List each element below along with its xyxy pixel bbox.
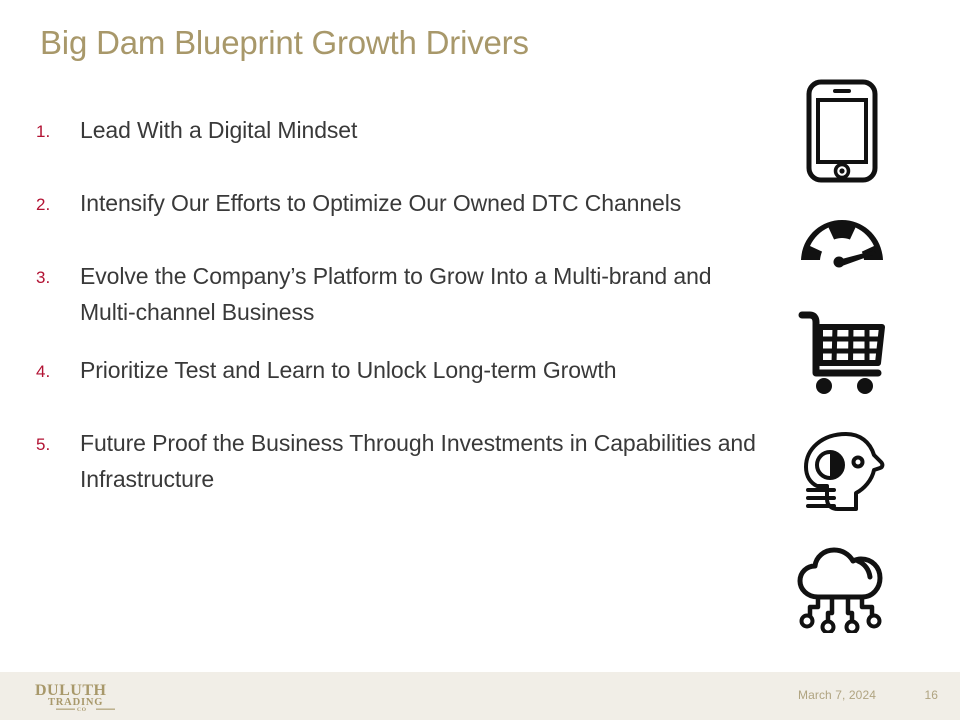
footer-date: March 7, 2024 (798, 688, 876, 702)
list-item: 4. Prioritize Test and Learn to Unlock L… (36, 352, 756, 389)
list-item-text: Intensify Our Efforts to Optimize Our Ow… (80, 185, 756, 221)
cloud-network-icon (762, 532, 922, 642)
list-item: 5. Future Proof the Business Through Inv… (36, 425, 756, 497)
list-item-text: Lead With a Digital Mindset (80, 112, 756, 148)
list-item-number: 5. (36, 425, 80, 462)
list-item-number: 4. (36, 352, 80, 389)
speedometer-icon (762, 200, 922, 290)
list-item-number: 1. (36, 112, 80, 149)
slide-footer: DULUTH TRADING CO March 7, 2024 16 (0, 672, 960, 720)
logo-text-trading: TRADING (48, 697, 103, 708)
list-item-text: Prioritize Test and Learn to Unlock Long… (80, 352, 756, 388)
shopping-cart-icon (762, 296, 922, 406)
list-item-number: 2. (36, 185, 80, 222)
list-item: 1. Lead With a Digital Mindset (36, 112, 756, 149)
slide-canvas: Big Dam Blueprint Growth Drivers 1. Lead… (0, 0, 960, 720)
list-item: 2. Intensify Our Efforts to Optimize Our… (36, 185, 756, 222)
logo-text-co: CO (77, 707, 87, 712)
growth-drivers-list: 1. Lead With a Digital Mindset 2. Intens… (36, 112, 756, 519)
duluth-trading-co-logo: DULUTH TRADING CO (34, 680, 138, 712)
list-item-text: Future Proof the Business Through Invest… (80, 425, 756, 497)
icon-column (762, 60, 922, 660)
list-item-text: Evolve the Company’s Platform to Grow In… (80, 258, 756, 330)
head-analytics-icon (762, 418, 922, 523)
page-title: Big Dam Blueprint Growth Drivers (40, 24, 529, 62)
footer-page-number: 16 (922, 688, 938, 702)
footer-meta: March 7, 2024 16 (798, 688, 938, 702)
smartphone-icon (762, 76, 922, 186)
list-item-number: 3. (36, 258, 80, 295)
list-item: 3. Evolve the Company’s Platform to Grow… (36, 258, 756, 330)
